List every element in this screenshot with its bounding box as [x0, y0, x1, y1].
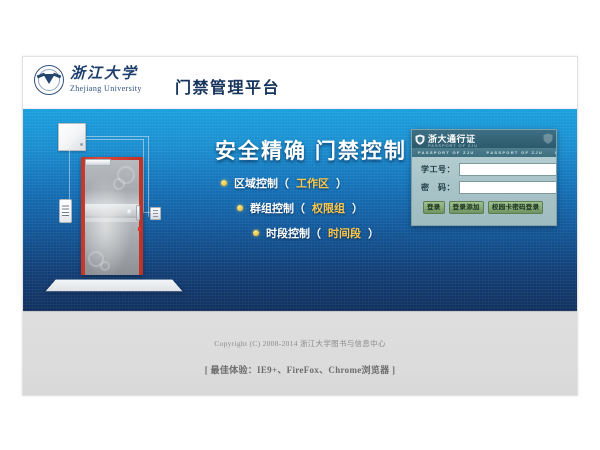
feature-highlight: 工作区: [296, 175, 329, 191]
university-name-en: Zhejiang University: [70, 85, 142, 93]
list-item: 区域控制（工作区）: [221, 175, 379, 191]
door-status-led: [138, 227, 141, 231]
list-item: 群组控制（权限组）: [237, 200, 379, 216]
keypad-reader-icon: [59, 199, 72, 223]
door-frame: [81, 157, 143, 275]
hero-banner: 安全精确 门禁控制 区域控制（工作区） 群组控制（权限组） 时段控制（时间段）: [23, 109, 577, 311]
login-panel[interactable]: 浙大通行证 PASSPORT OF ZJU PASSPORT OF ZJU PA…: [411, 129, 557, 226]
door-closer-icon: [85, 159, 111, 166]
feature-tail: ）: [368, 225, 379, 241]
list-item: 时段控制（时间段）: [253, 225, 379, 241]
wire: [143, 139, 144, 212]
password-row: 密 码：: [419, 181, 549, 194]
shield-icon: [543, 133, 553, 144]
door-slab: [85, 160, 139, 275]
passport-band-text: PASSPORT OF ZJU: [549, 150, 556, 155]
door-handle-icon: [136, 205, 140, 221]
feature-tail: ）: [352, 200, 363, 216]
passport-band-text: PASSPORT OF ZJU: [412, 150, 481, 155]
password-label: 密 码：: [419, 182, 459, 193]
site-header: 浙江大学 Zhejiang University 门禁管理平台: [23, 57, 577, 109]
login-add-button[interactable]: 登录添加: [449, 201, 484, 214]
bullet-icon: [253, 230, 259, 236]
zju-seal-icon: [34, 65, 64, 95]
login-panel-subtitle: PASSPORT OF ZJU: [428, 143, 478, 148]
shield-icon: [415, 134, 425, 145]
login-button[interactable]: 登录: [423, 201, 445, 214]
floor-plate: [46, 280, 183, 292]
university-name-cn: 浙江大学: [70, 67, 142, 82]
bullet-icon: [221, 180, 227, 186]
bullet-icon: [237, 205, 243, 211]
controller-box-icon: [58, 123, 86, 151]
door-knob-icon: [127, 209, 133, 215]
wire: [69, 150, 70, 200]
brand-names: 浙江大学 Zhejiang University: [70, 67, 142, 94]
wire: [148, 136, 149, 217]
feature-text: 时段控制（: [266, 225, 321, 241]
brand-block[interactable]: 浙江大学 Zhejiang University: [34, 65, 142, 95]
feature-text: 区域控制（: [234, 175, 289, 191]
passport-watermark-band: PASSPORT OF ZJU PASSPORT OF ZJU PASSPORT…: [412, 148, 556, 157]
page-title: 门禁管理平台: [175, 74, 280, 98]
feature-highlight: 时间段: [328, 225, 361, 241]
passport-band-text: PASSPORT OF ZJU: [481, 150, 550, 155]
feature-tail: ）: [336, 175, 347, 191]
username-row: 学工号：: [419, 163, 549, 176]
card-reader-icon: [150, 207, 161, 220]
browser-recommendation-text: [ 最佳体验：IE9+、FireFox、Chrome浏览器 ]: [23, 349, 577, 376]
login-button-row: 登录 登录添加 校园卡密码登录: [419, 199, 549, 214]
feature-highlight: 权限组: [312, 200, 345, 216]
access-control-door-illustration: [41, 117, 186, 303]
banner-slogan: 安全精确 门禁控制: [215, 135, 407, 165]
feature-text: 群组控制（: [250, 200, 305, 216]
password-input[interactable]: [459, 181, 557, 194]
campus-card-login-button[interactable]: 校园卡密码登录: [488, 201, 544, 214]
login-panel-titlebar: 浙大通行证 PASSPORT OF ZJU: [412, 130, 556, 148]
username-label: 学工号：: [419, 164, 459, 175]
site-footer: Copyright (C) 2008-2014 浙江大学图书与信息中心 [ 最佳…: [23, 311, 577, 396]
copyright-text: Copyright (C) 2008-2014 浙江大学图书与信息中心: [23, 312, 577, 349]
username-input[interactable]: [459, 163, 557, 176]
page-card: 浙江大学 Zhejiang University 门禁管理平台: [22, 56, 578, 396]
feature-list: 区域控制（工作区） 群组控制（权限组） 时段控制（时间段）: [221, 175, 379, 250]
wire: [86, 139, 144, 140]
login-form: 学工号： 密 码： 登录 登录添加 校园卡密码登录: [412, 157, 556, 214]
wire: [86, 136, 149, 137]
